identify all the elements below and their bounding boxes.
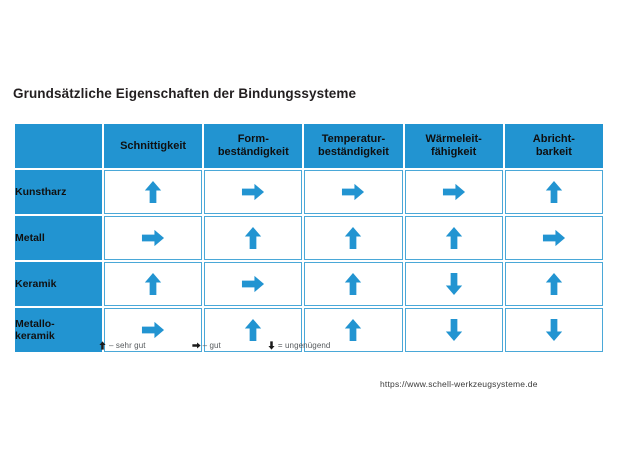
cell-metallokeramik-abrichtbarkeit bbox=[505, 308, 603, 352]
arrow-down-icon bbox=[442, 275, 466, 292]
column-header-line1: Temperatur- bbox=[322, 133, 385, 145]
arrow-up-icon bbox=[241, 321, 265, 338]
arrow-right-icon bbox=[542, 229, 566, 246]
arrow-down-icon bbox=[267, 341, 276, 350]
arrow-up-icon bbox=[442, 229, 466, 246]
column-header-schnittigkeit: Schnittigkeit bbox=[104, 124, 202, 168]
cell-metall-schnittigkeit bbox=[104, 216, 202, 260]
column-header-line2: beständigkeit bbox=[318, 146, 389, 158]
row-header-metallokeramik: Metallo- keramik bbox=[15, 308, 102, 352]
column-header-waermeleitfaehigkeit: Wärmeleit- fähigkeit bbox=[405, 124, 503, 168]
legend-label: – sehr gut bbox=[109, 341, 146, 350]
arrow-down-icon bbox=[442, 321, 466, 338]
source-url: https://www.schell-werkzeugsysteme.de bbox=[380, 379, 538, 389]
table-row: Kunstharz bbox=[15, 170, 603, 214]
column-header-line1: Abricht- bbox=[533, 133, 575, 145]
properties-table: Schnittigkeit Form- beständigkeit Temper… bbox=[13, 122, 605, 354]
cell-keramik-temperaturbestaendigkeit bbox=[304, 262, 402, 306]
row-header-line1: Keramik bbox=[15, 278, 56, 290]
arrow-up-icon bbox=[241, 229, 265, 246]
column-header-line1: Wärmeleit- bbox=[426, 133, 482, 145]
legend-label: – gut bbox=[203, 341, 221, 350]
column-header-abrichtbarkeit: Abricht- barkeit bbox=[505, 124, 603, 168]
arrow-up-icon bbox=[341, 275, 365, 292]
arrow-right-icon bbox=[442, 183, 466, 200]
row-header-line1: Metall bbox=[15, 232, 45, 244]
table-header: Schnittigkeit Form- beständigkeit Temper… bbox=[15, 124, 603, 168]
row-header-line2: keramik bbox=[15, 330, 55, 342]
column-header-line1: Form- bbox=[238, 133, 269, 145]
arrow-up-icon bbox=[542, 275, 566, 292]
cell-kunstharz-formbestaendigkeit bbox=[204, 170, 302, 214]
cell-kunstharz-schnittigkeit bbox=[104, 170, 202, 214]
arrow-up-icon bbox=[141, 183, 165, 200]
cell-metall-formbestaendigkeit bbox=[204, 216, 302, 260]
table-row: Metall bbox=[15, 216, 603, 260]
arrow-right-icon bbox=[241, 183, 265, 200]
cell-metall-temperaturbestaendigkeit bbox=[304, 216, 402, 260]
arrow-right-icon bbox=[241, 275, 265, 292]
column-header-formbestaendigkeit: Form- beständigkeit bbox=[204, 124, 302, 168]
table-row: Keramik bbox=[15, 262, 603, 306]
legend-item-gut: – gut bbox=[192, 341, 221, 350]
legend-item-sehr-gut: – sehr gut bbox=[98, 341, 146, 350]
arrow-up-icon bbox=[341, 229, 365, 246]
cell-kunstharz-temperaturbestaendigkeit bbox=[304, 170, 402, 214]
cell-kunstharz-waermeleitfaehigkeit bbox=[405, 170, 503, 214]
row-header-keramik: Keramik bbox=[15, 262, 102, 306]
arrow-up-icon bbox=[98, 341, 107, 350]
legend-item-ungenuegend: = ungenügend bbox=[267, 341, 331, 350]
table-body: Kunstharz Metall Keramik bbox=[15, 170, 603, 352]
legend-label: = ungenügend bbox=[278, 341, 331, 350]
cell-keramik-waermeleitfaehigkeit bbox=[405, 262, 503, 306]
column-header-line2: beständigkeit bbox=[218, 146, 289, 158]
row-header-kunstharz: Kunstharz bbox=[15, 170, 102, 214]
row-header-line1: Metallo- bbox=[15, 318, 55, 330]
arrow-up-icon bbox=[141, 275, 165, 292]
cell-metall-waermeleitfaehigkeit bbox=[405, 216, 503, 260]
table-corner-cell bbox=[15, 124, 102, 168]
arrow-up-icon bbox=[341, 321, 365, 338]
cell-kunstharz-abrichtbarkeit bbox=[505, 170, 603, 214]
arrow-right-icon bbox=[141, 229, 165, 246]
cell-metall-abrichtbarkeit bbox=[505, 216, 603, 260]
column-header-line2: fähigkeit bbox=[431, 146, 476, 158]
cell-keramik-schnittigkeit bbox=[104, 262, 202, 306]
arrow-right-icon bbox=[192, 341, 201, 350]
legend: – sehr gut – gut = ungenügend bbox=[98, 341, 330, 350]
arrow-right-icon bbox=[141, 321, 165, 338]
arrow-right-icon bbox=[341, 183, 365, 200]
column-header-line1: Schnittigkeit bbox=[120, 140, 186, 152]
arrow-up-icon bbox=[542, 183, 566, 200]
page-title: Grundsätzliche Eigenschaften der Bindung… bbox=[13, 86, 356, 101]
cell-keramik-abrichtbarkeit bbox=[505, 262, 603, 306]
arrow-down-icon bbox=[542, 321, 566, 338]
cell-keramik-formbestaendigkeit bbox=[204, 262, 302, 306]
column-header-temperaturbestaendigkeit: Temperatur- beständigkeit bbox=[304, 124, 402, 168]
slide-canvas: Grundsätzliche Eigenschaften der Bindung… bbox=[0, 0, 620, 464]
cell-metallokeramik-waermeleitfaehigkeit bbox=[405, 308, 503, 352]
table-header-row: Schnittigkeit Form- beständigkeit Temper… bbox=[15, 124, 603, 168]
column-header-line2: barkeit bbox=[536, 146, 572, 158]
row-header-metall: Metall bbox=[15, 216, 102, 260]
row-header-line1: Kunstharz bbox=[15, 186, 66, 198]
